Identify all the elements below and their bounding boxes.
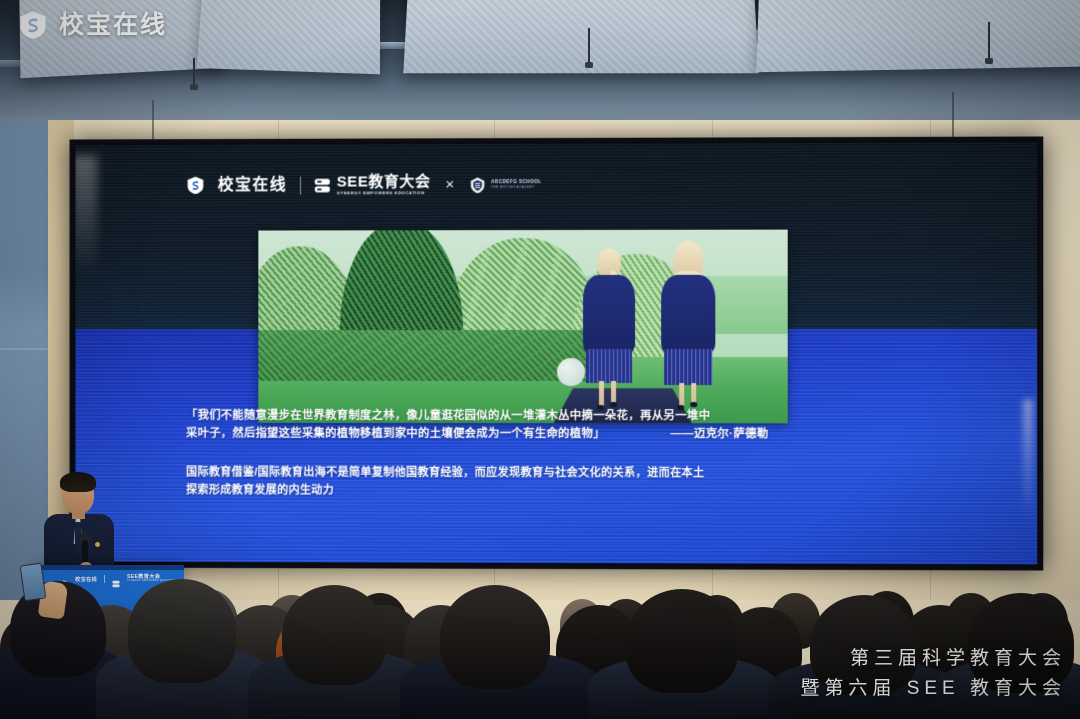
ceiling-panel [756,0,1080,72]
lapel-pin [95,542,100,547]
quote-line-2: 采叶子，然后指望这些采集的植物移植到家中的土壤便会成为一个有生命的植物」 [186,428,605,440]
tennis-ball-icon [557,358,585,386]
see-logo: SEE教育大会 SYNERGY EMPOWERS EDUCATION [314,174,431,196]
partner-name: ABCDEFG SCHOOL [491,180,542,185]
slide-quote: 「我们不能随意漫步在世界教育制度之林，像儿童逛花园似的从一堆灌木丛中摘一朵花，再… [186,407,997,445]
body-line-1: 国际教育借鉴/国际教育出海不是简单复制他国教育经验，而应发现教育与社会文化的关系… [186,463,997,483]
slide-logo-bar: 校宝在线 SEE教育大会 SYNERGY EMPOWERS EDUCATION [186,174,542,196]
watermark: 校宝在线 [18,10,167,40]
conference-photo-screenshot: 校宝在线 SEE教育大会 SYNERGY EMPOWERS EDUCATION [0,0,1080,719]
slide-body: 国际教育借鉴/国际教育出海不是简单复制他国教育经验，而应发现教育与社会文化的关系… [186,463,997,501]
cross-icon: × [445,176,454,193]
slide-brand-label: 校宝在线 [218,177,287,193]
conference-line-2: 暨第六届 SEE 教育大会 [800,674,1066,703]
smartphone-icon [20,563,47,602]
led-screen: 校宝在线 SEE教育大会 SYNERGY EMPOWERS EDUCATION [70,136,1044,570]
audience-head [440,585,550,689]
see-title: SEE教育大会 [337,174,431,189]
logo-divider [300,176,301,194]
led-screen-surface: 校宝在线 SEE教育大会 SYNERGY EMPOWERS EDUCATION [75,143,1037,565]
see-stacked-icon [314,177,331,193]
schoolgirl-left [575,245,643,417]
quote-attribution: ——迈克尔·萨德勒 [671,426,769,445]
partner-sub: THE BRITISH ACADEMY [491,186,542,189]
conference-title-overlay: 第三届科学教育大会 暨第六届 SEE 教育大会 [800,644,1066,703]
ceiling-panel [403,0,758,73]
ceiling-hanger [988,22,990,60]
quote-line-2-wrap: 采叶子，然后指望这些采集的植物移植到家中的土壤便会成为一个有生命的植物」 ——迈… [186,425,997,444]
audience-head [282,585,386,685]
ceiling-hanger [588,28,590,64]
screen-cable [152,100,154,142]
see-subtitle: SYNERGY EMPOWERS EDUCATION [337,191,431,196]
school-crest-icon [469,176,486,194]
xiaobao-s-logo-icon [18,10,48,40]
quote-line-1: 「我们不能随意漫步在世界教育制度之林，像儿童逛花园似的从一堆灌木丛中摘一朵花，再… [186,407,997,426]
body-line-2: 探索形成教育发展的内生动力 [186,481,997,501]
slide-photo [258,230,787,424]
audience-head [626,589,738,693]
ceiling-hanger [193,58,195,86]
watermark-label: 校宝在线 [59,13,167,38]
conference-line-1: 第三届科学教育大会 [800,644,1066,673]
ceiling-panel [197,0,380,74]
partner-logo: ABCDEFG SCHOOL THE BRITISH ACADEMY [469,176,542,194]
audience-head [128,579,236,683]
schoolgirl-right [653,241,723,417]
xiaobao-s-logo-icon [186,176,205,195]
